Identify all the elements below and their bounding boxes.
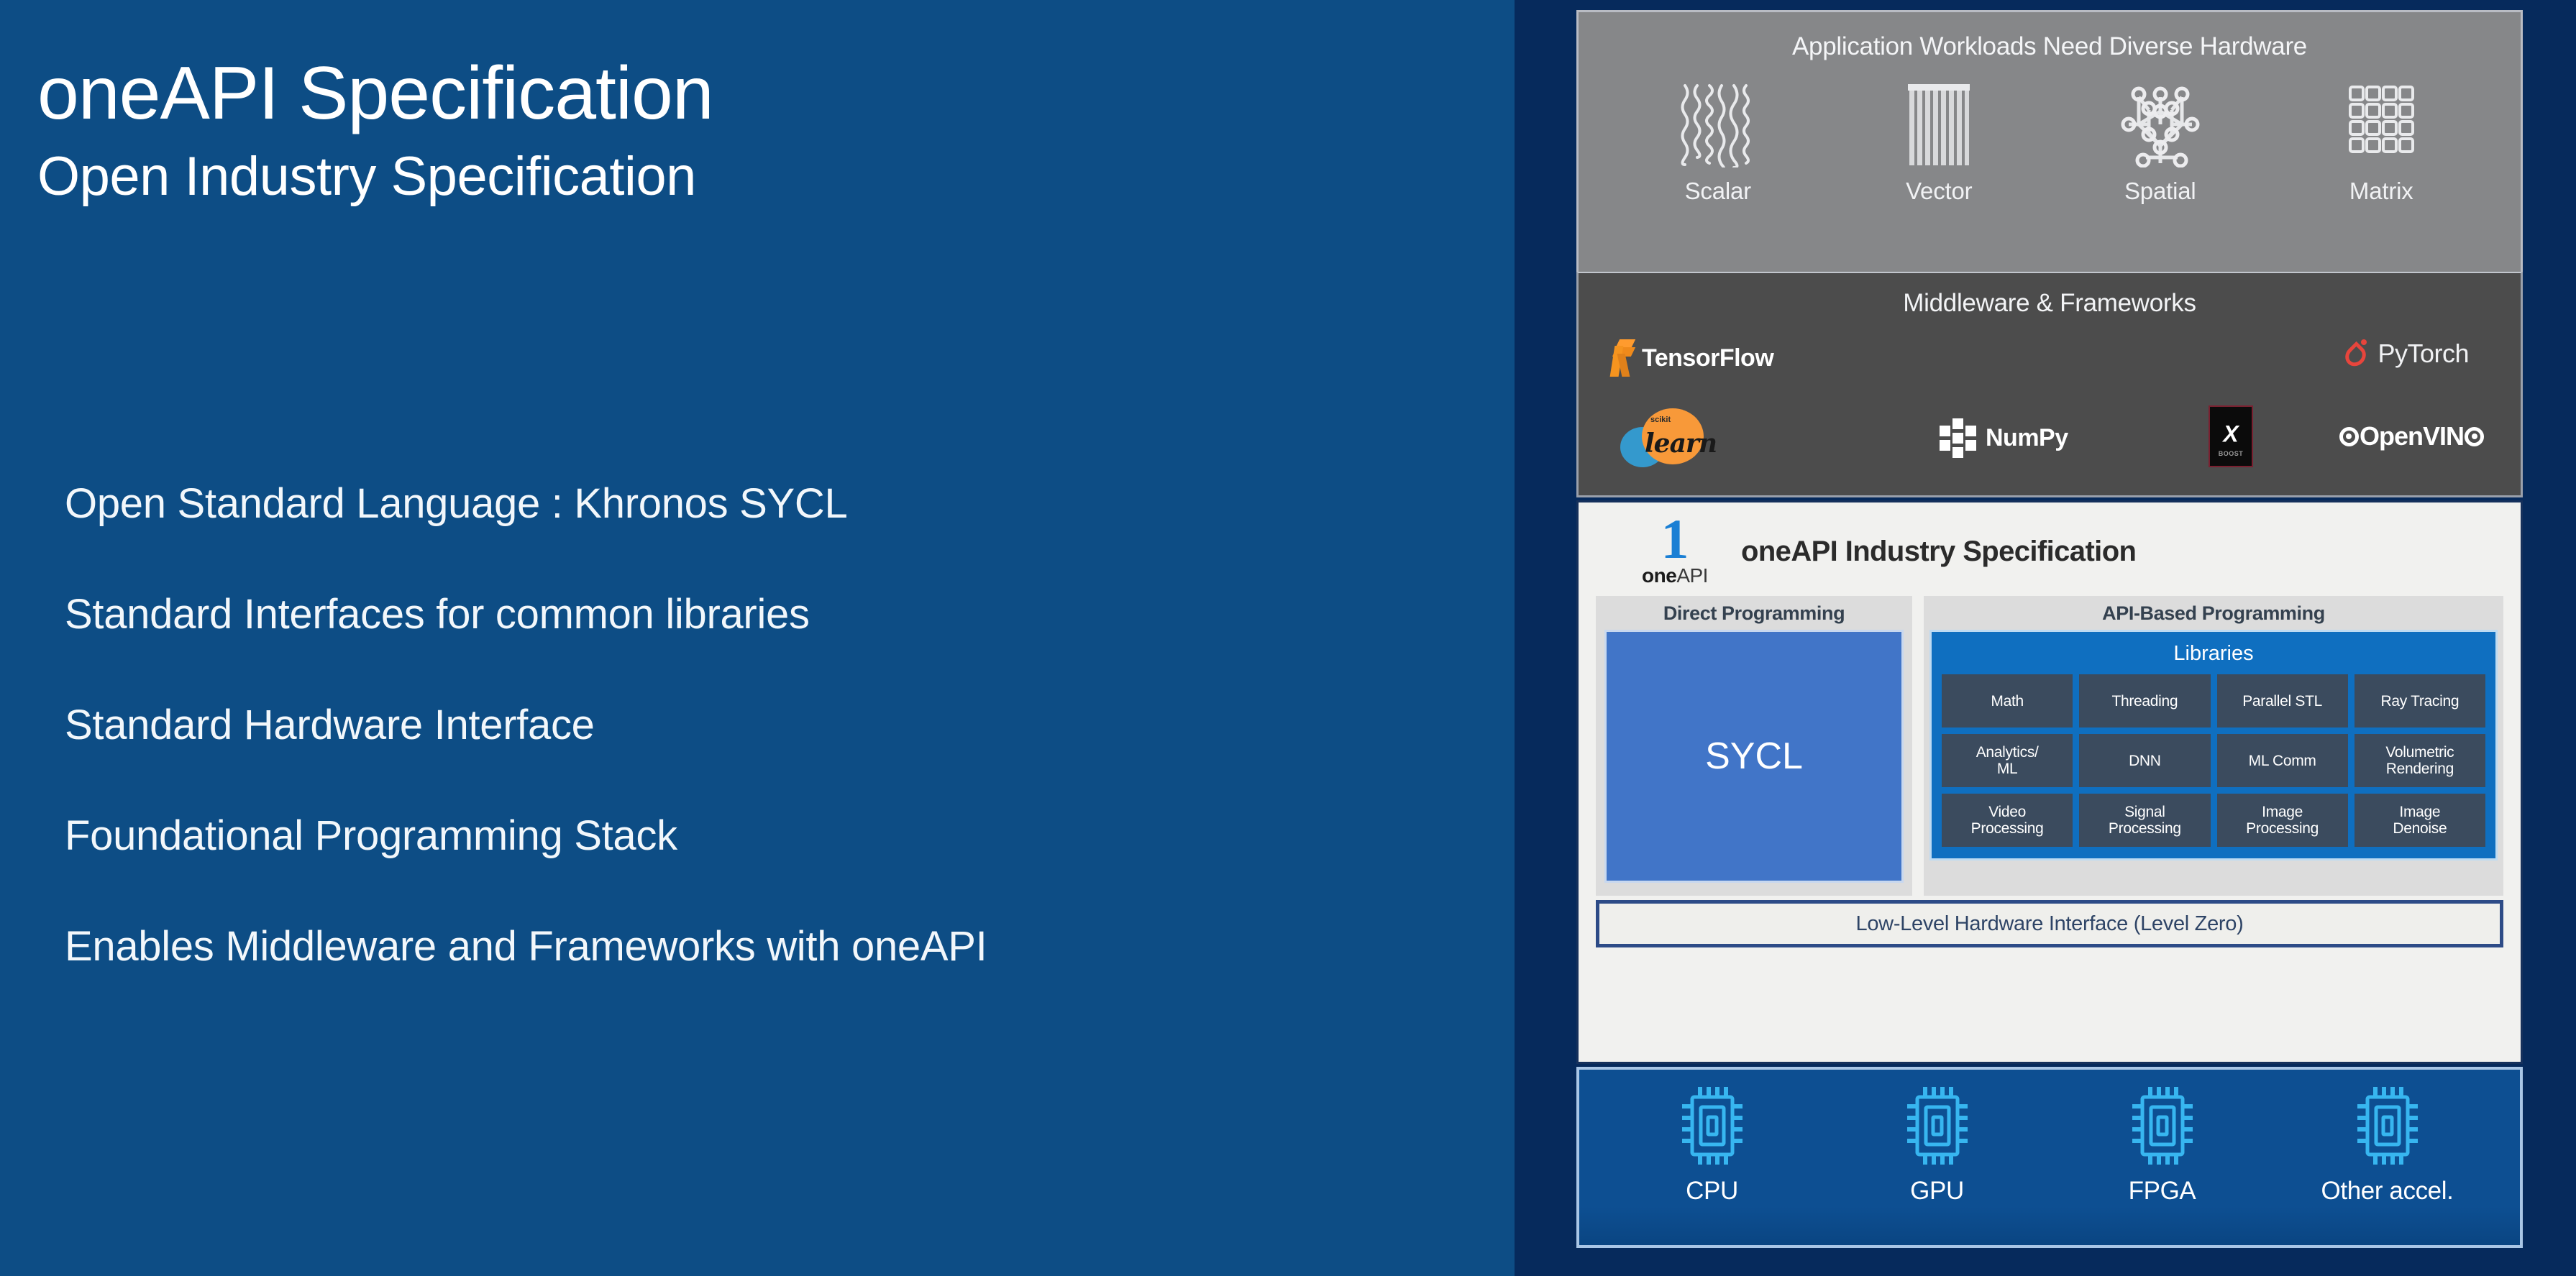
tensorflow-label: TensorFlow [1642, 344, 1773, 372]
pytorch-logo: PyTorch [2343, 338, 2469, 370]
hardware-cpu: CPU [1622, 1085, 1802, 1206]
scikit-learn-logo: scikit learn [1620, 407, 1709, 467]
middleware-logo-row-2: scikit learn NumPy [1579, 403, 2521, 482]
workloads-row: Scalar [1579, 61, 2521, 205]
oneapi-logo-api: API [1676, 564, 1708, 587]
hardware-band: CPU [1576, 1067, 2523, 1248]
sycl-label: SYCL [1705, 735, 1803, 778]
list-item: Standard Interfaces for common libraries [65, 594, 1431, 635]
oneapi-stack-diagram: Application Workloads Need Diverse Hardw… [1576, 10, 2523, 1248]
list-item: Open Standard Language : Khronos SYCL [65, 483, 1431, 525]
workload-label: Vector [1856, 178, 2022, 205]
libraries-grid: Math Threading Parallel STL Ray Tracing … [1942, 674, 2485, 847]
page-title: oneAPI Specification [37, 56, 713, 131]
openvino-logo: OpenVIN [2339, 421, 2485, 451]
workload-label: Matrix [2298, 178, 2464, 205]
library-cell[interactable]: Parallel STL [2217, 674, 2348, 727]
middleware-title: Middleware & Frameworks [1579, 273, 2521, 318]
workloads-band: Application Workloads Need Diverse Hardw… [1576, 10, 2523, 272]
left-content-panel: oneAPI Specification Open Industry Speci… [0, 0, 1515, 1276]
library-cell[interactable]: VolumetricRendering [2355, 734, 2485, 787]
library-cell[interactable]: ML Comm [2217, 734, 2348, 787]
openvino-text: OpenVIN [2360, 421, 2464, 451]
spec-columns: Direct Programming SYCL API-Based Progra… [1579, 587, 2521, 896]
spec-header: 1 oneAPI oneAPI Industry Specification [1579, 502, 2521, 587]
xgboost-sublabel: BOOST [2219, 450, 2244, 457]
openvino-o-left-icon [2339, 427, 2359, 446]
workload-label: Spatial [2078, 178, 2243, 205]
hardware-other-accel: Other accel. [2298, 1085, 2477, 1206]
libraries-box: Libraries Math Threading Parallel STL Ra… [1929, 630, 2498, 860]
workloads-title: Application Workloads Need Diverse Hardw… [1579, 12, 2521, 61]
workload-label: Scalar [1635, 178, 1801, 205]
chip-icon [2073, 1085, 2252, 1170]
hardware-label: GPU [1847, 1177, 2027, 1206]
library-cell[interactable]: Analytics/ML [1942, 734, 2073, 787]
xgboost-mark-letter: X [2223, 421, 2238, 447]
vertical-bars-icon [1856, 80, 2022, 167]
scikit-sublabel: scikit [1650, 416, 1671, 424]
pytorch-icon [2343, 338, 2369, 370]
low-level-hardware-interface-label: Low-Level Hardware Interface (Level Zero… [1856, 912, 2244, 936]
api-based-programming-header: API-Based Programming [1924, 596, 2503, 630]
oneapi-logo-wordmark: oneAPI [1640, 564, 1709, 587]
libraries-title: Libraries [1942, 639, 2485, 674]
oneapi-logo-one: one [1642, 564, 1676, 587]
wavy-lines-icon [1635, 80, 1801, 167]
middleware-band: Middleware & Frameworks TensorFlow PyTor… [1576, 272, 2523, 497]
chip-icon [1847, 1085, 2027, 1170]
hardware-label: FPGA [2073, 1177, 2252, 1206]
numpy-logo: NumPy [1938, 418, 2068, 457]
api-based-programming-column: API-Based Programming Libraries Math Thr… [1924, 596, 2503, 896]
pytorch-label: PyTorch [2378, 339, 2469, 369]
library-cell[interactable]: DNN [2079, 734, 2210, 787]
workload-spatial: Spatial [2078, 80, 2243, 205]
circuit-nodes-icon [2078, 80, 2243, 167]
low-level-hardware-interface-bar: Low-Level Hardware Interface (Level Zero… [1596, 900, 2503, 947]
library-cell[interactable]: SignalProcessing [2079, 794, 2210, 847]
openvino-o-right-icon [2465, 427, 2484, 446]
scikit-learn-label: learn [1645, 428, 1705, 459]
sycl-box: SYCL [1604, 630, 1904, 883]
xgboost-logo: X BOOST [2209, 405, 2253, 467]
library-cell[interactable]: Ray Tracing [2355, 674, 2485, 727]
numpy-icon [1938, 418, 1977, 457]
list-item: Standard Hardware Interface [65, 704, 1431, 746]
xgboost-icon: X BOOST [2209, 405, 2253, 467]
openvino-label: OpenVIN [2339, 421, 2485, 451]
oneapi-logo-glyph: 1 [1640, 515, 1709, 563]
oneapi-logo: 1 oneAPI [1640, 515, 1709, 587]
hardware-row: CPU [1579, 1070, 2520, 1206]
hardware-gpu: GPU [1847, 1085, 2027, 1206]
spec-title: oneAPI Industry Specification [1741, 536, 2136, 568]
scikit-learn-icon: scikit learn [1620, 407, 1709, 467]
workload-matrix: Matrix [2298, 80, 2464, 205]
hardware-fpga: FPGA [2073, 1085, 2252, 1206]
title-block: oneAPI Specification Open Industry Speci… [37, 56, 713, 204]
grid-cells-icon [2298, 80, 2464, 167]
list-item: Enables Middleware and Frameworks with o… [65, 926, 1431, 968]
workload-scalar: Scalar [1635, 80, 1801, 205]
hardware-label: Other accel. [2298, 1177, 2477, 1206]
chip-icon [1622, 1085, 1802, 1170]
list-item: Foundational Programming Stack [65, 815, 1431, 857]
workload-vector: Vector [1856, 80, 2022, 205]
numpy-label: NumPy [1986, 424, 2068, 452]
library-cell[interactable]: ImageProcessing [2217, 794, 2348, 847]
library-cell[interactable]: ImageDenoise [2355, 794, 2485, 847]
tensorflow-icon [1606, 339, 1633, 377]
page-subtitle: Open Industry Specification [37, 150, 713, 204]
middleware-logo-row-1: TensorFlow PyTorch [1579, 331, 2521, 397]
slide-canvas: oneAPI Specification Open Industry Speci… [0, 0, 2576, 1276]
tensorflow-logo: TensorFlow [1606, 339, 1773, 377]
chip-icon [2298, 1085, 2477, 1170]
library-cell[interactable]: VideoProcessing [1942, 794, 2073, 847]
oneapi-spec-band: 1 oneAPI oneAPI Industry Specification D… [1576, 500, 2523, 1064]
bullet-list: Open Standard Language : Khronos SYCL St… [65, 483, 1431, 968]
library-cell[interactable]: Math [1942, 674, 2073, 727]
direct-programming-column: Direct Programming SYCL [1596, 596, 1912, 896]
direct-programming-header: Direct Programming [1596, 596, 1912, 630]
hardware-label: CPU [1622, 1177, 1802, 1206]
library-cell[interactable]: Threading [2079, 674, 2210, 727]
